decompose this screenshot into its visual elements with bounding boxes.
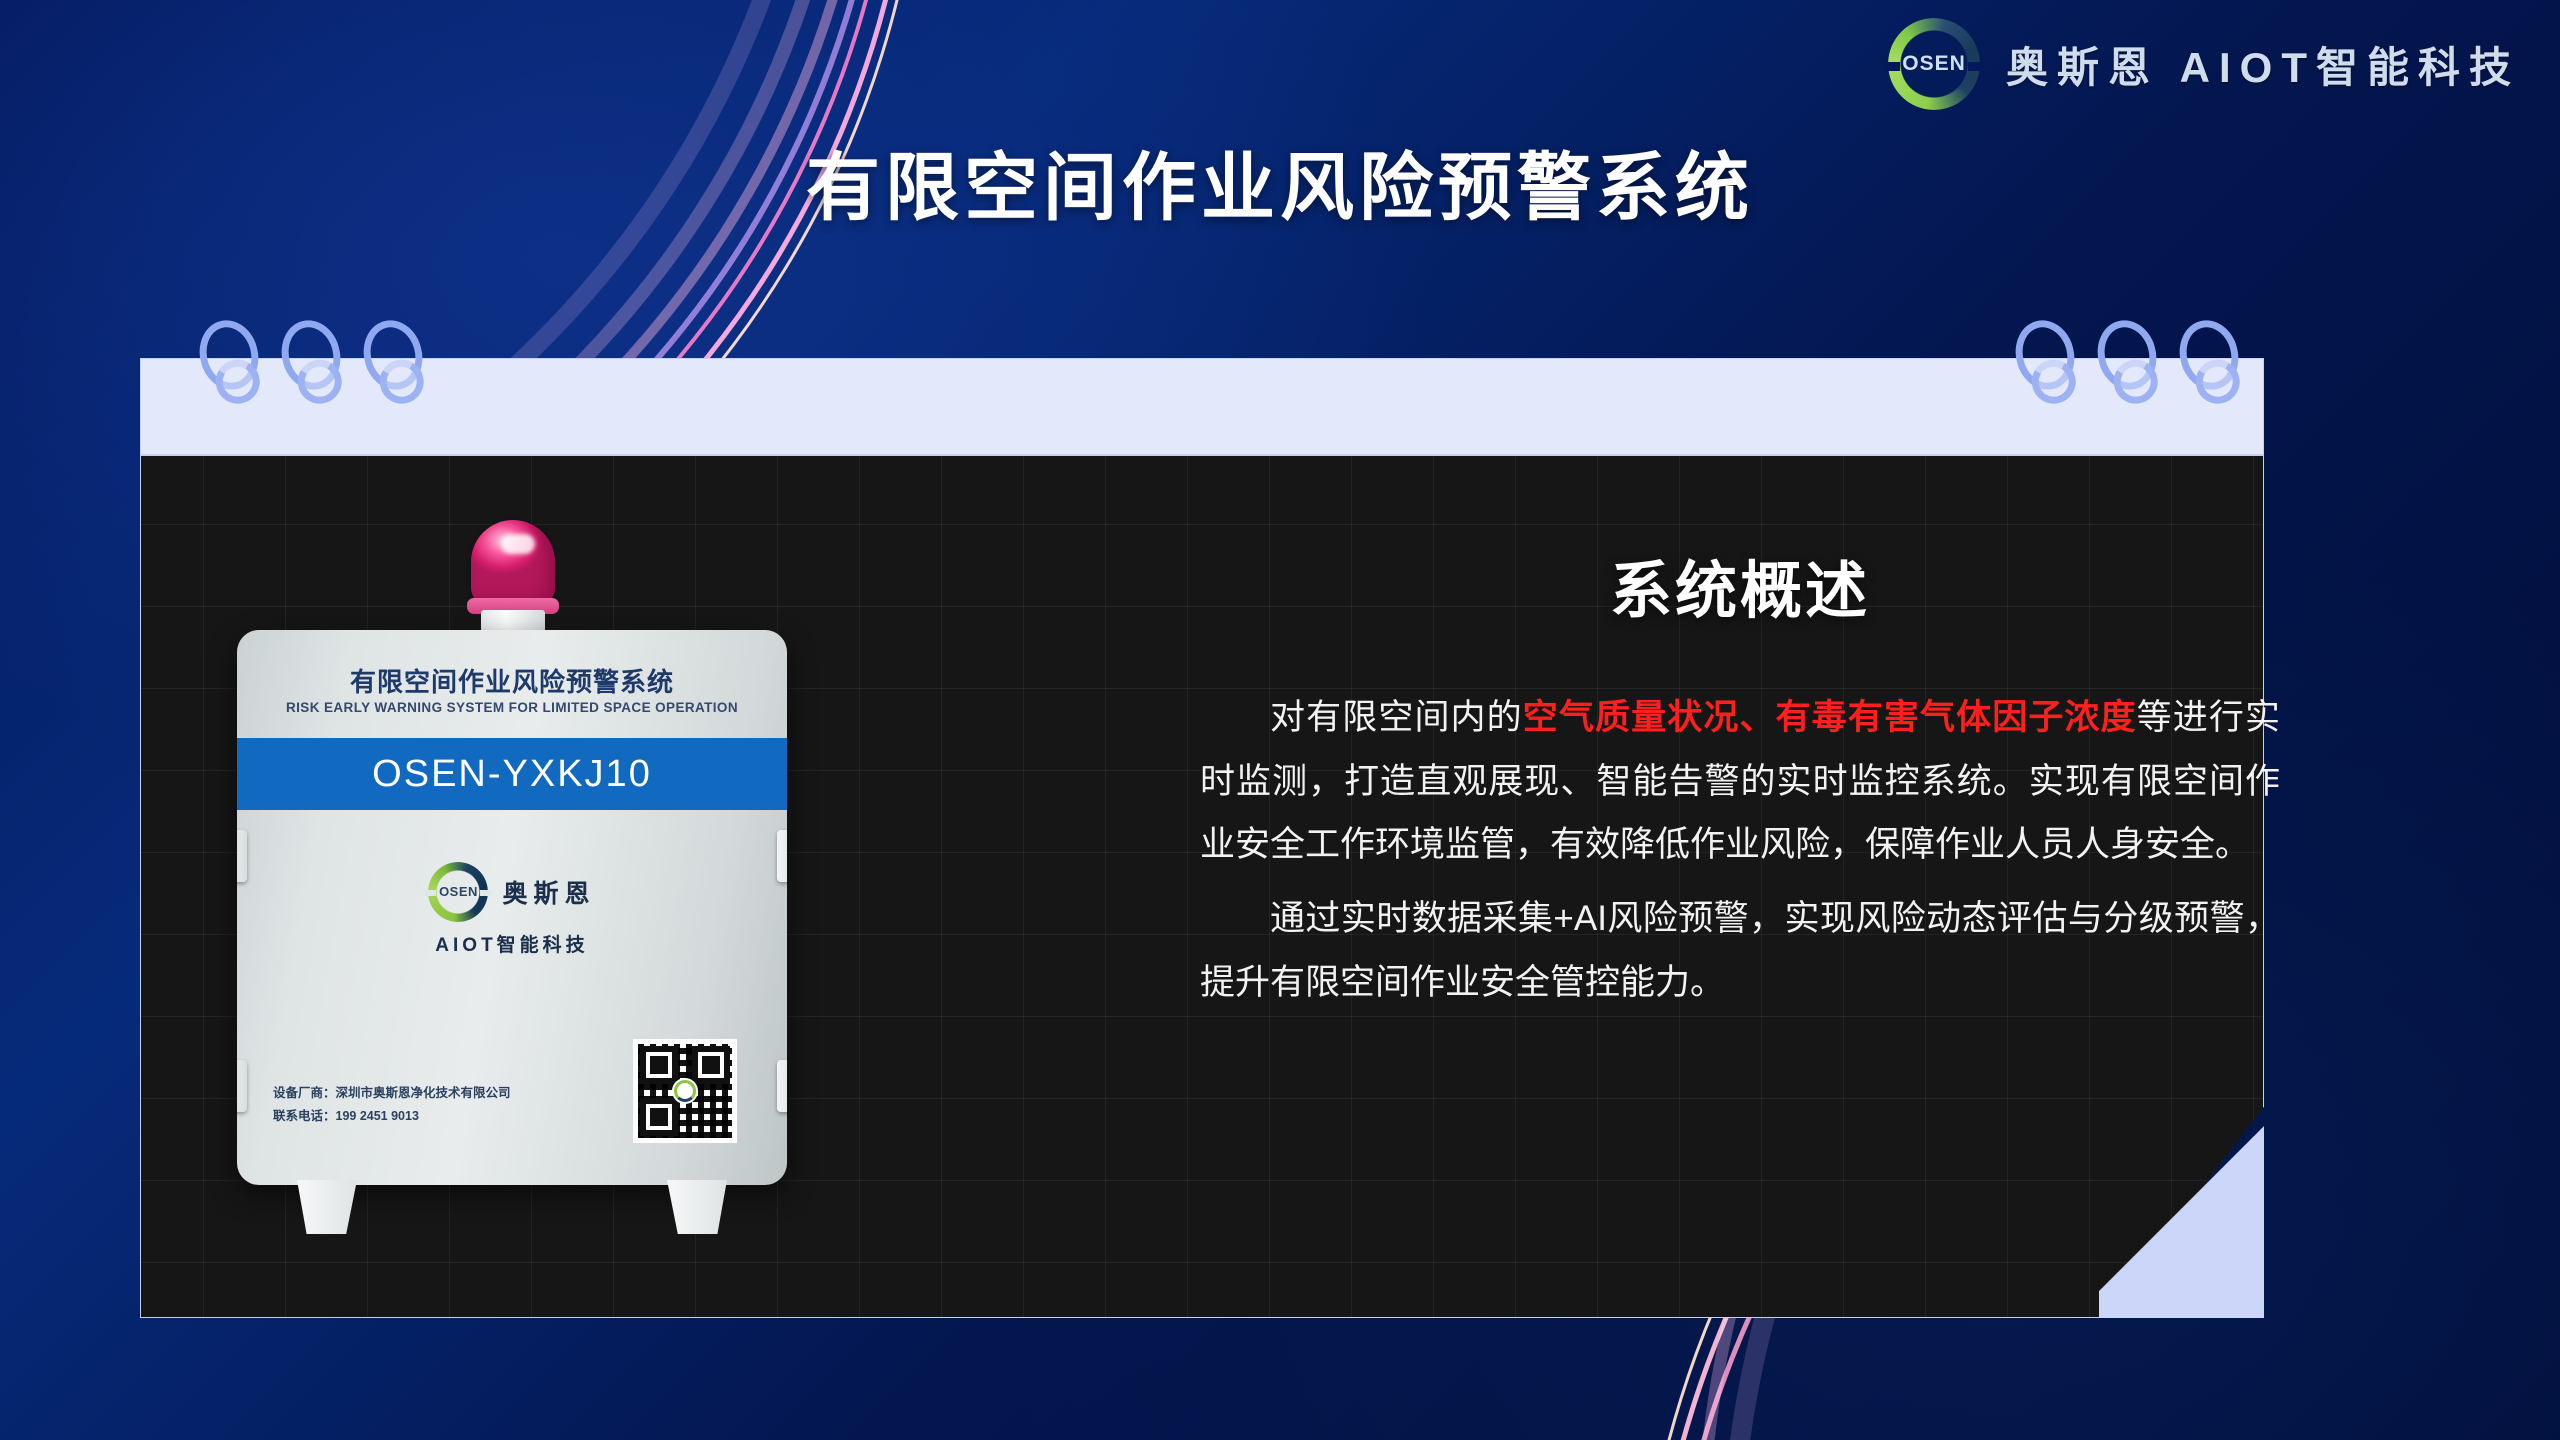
spiral-ring-icon <box>200 320 246 394</box>
overview-p1-part-a: 对有限空间内的 <box>1270 698 1523 737</box>
device-model-text: OSEN-YXKJ10 <box>372 753 652 796</box>
device-title-cn: 有限空间作业风险预警系统 <box>237 662 787 699</box>
qr-eye <box>640 1046 678 1084</box>
device-brand-logo: OSEN 奥斯恩 AIOT智能科技 <box>237 862 787 957</box>
device-foot <box>297 1180 357 1234</box>
overview-title: 系统概述 <box>1200 540 2280 630</box>
mount-lug <box>237 1060 247 1112</box>
page-title: 有限空间作业风险预警系统 <box>0 128 2560 235</box>
qr-code-icon <box>633 1039 737 1143</box>
qr-eye <box>692 1046 730 1084</box>
brand-logo: OSEN 奥斯恩 AIOT智能科技 <box>1888 18 2520 110</box>
mount-lug <box>777 1060 787 1112</box>
qr-pattern <box>638 1044 732 1138</box>
overview-p1-highlight: 空气质量状况、有毒有害气体因子浓度 <box>1523 698 2137 737</box>
spiral-ring-icon <box>282 320 328 394</box>
device-footer-info: 设备厂商：深圳市奥斯恩净化技术有限公司 联系电话：199 2451 9013 <box>273 1082 511 1130</box>
device-logo-osen-text: OSEN <box>428 884 488 899</box>
logo-osen-text: OSEN <box>1888 52 1980 76</box>
device-feet <box>237 1180 787 1236</box>
spiral-ring-icon <box>364 320 410 394</box>
overview-paragraph-1: 对有限空间内的空气质量状况、有毒有害气体因子浓度等进行实时监测，打造直观展现、智… <box>1200 686 2280 877</box>
beacon-highlight <box>501 534 535 554</box>
brand-name-text: 奥斯恩 AIOT智能科技 <box>2006 34 2520 95</box>
spiral-ring-icon <box>2180 320 2226 394</box>
qr-eye <box>640 1098 678 1136</box>
spiral-ring-icon <box>2016 320 2062 394</box>
device-phone: 联系电话：199 2451 9013 <box>273 1105 511 1129</box>
device-title-en: RISK EARLY WARNING SYSTEM FOR LIMITED SP… <box>237 700 787 715</box>
device-illustration: 有限空间作业风险预警系统 RISK EARLY WARNING SYSTEM F… <box>237 520 787 1230</box>
device-logo-cn-text: 奥斯恩 <box>502 874 595 910</box>
overview-paragraph-2: 通过实时数据采集+AI风险预警，实现风险动态评估与分级预警，提升有限空间作业安全… <box>1200 887 2280 1014</box>
qr-center-logo <box>672 1078 698 1104</box>
panel-header-strip <box>140 358 2264 455</box>
device-enclosure: 有限空间作业风险预警系统 RISK EARLY WARNING SYSTEM F… <box>237 630 787 1185</box>
alarm-beacon-icon <box>465 520 561 638</box>
device-osen-ring-icon: OSEN <box>428 862 488 922</box>
device-manufacturer: 设备厂商：深圳市奥斯恩净化技术有限公司 <box>273 1082 511 1106</box>
beacon-dome <box>471 520 555 606</box>
mount-lug <box>237 830 247 882</box>
device-foot <box>667 1180 727 1234</box>
overview-section: 系统概述 对有限空间内的空气质量状况、有毒有害气体因子浓度等进行实时监测，打造直… <box>1200 540 2280 1014</box>
slide-root: OSEN 奥斯恩 AIOT智能科技 有限空间作业风险预警系统 有限空间作业风险预… <box>0 0 2560 1440</box>
device-logo-sub-text: AIOT智能科技 <box>435 930 588 957</box>
spiral-ring-icon <box>2098 320 2144 394</box>
overview-paragraphs: 对有限空间内的空气质量状况、有毒有害气体因子浓度等进行实时监测，打造直观展现、智… <box>1200 686 2280 1014</box>
osen-ring-icon: OSEN <box>1888 18 1980 110</box>
mount-lug <box>777 830 787 882</box>
device-logo-row: OSEN 奥斯恩 <box>428 862 595 922</box>
device-model-band: OSEN-YXKJ10 <box>237 738 787 810</box>
